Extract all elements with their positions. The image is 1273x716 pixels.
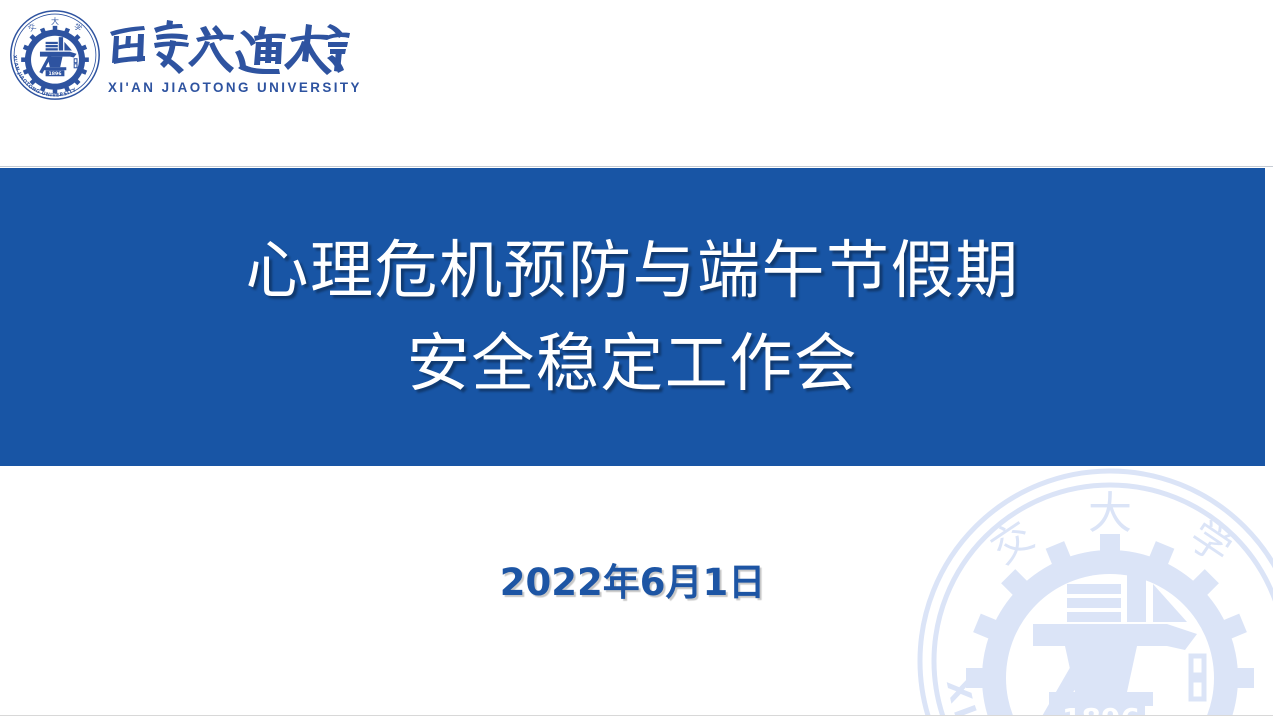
page-title-line-1: 心理危机预防与端午节假期 <box>246 224 1020 317</box>
slide-date: 2022年6月1日 <box>0 552 1265 606</box>
svg-text:交: 交 <box>26 21 38 34</box>
title-band: 心理危机预防与端午节假期 安全稳定工作会 <box>0 168 1265 466</box>
svg-text:大: 大 <box>51 16 59 26</box>
xjtu-calligraphy-wordmark-icon <box>104 16 350 78</box>
xjtu-seal-icon: XI'AN JIAOTONG UNIVERSITY 大 交 学 <box>8 8 102 102</box>
svg-text:XI'AN JIAOTONG: XI'AN JIAOTONG <box>939 676 1222 716</box>
university-logo-lockup: XI'AN JIAOTONG UNIVERSITY 大 交 学 <box>8 8 362 102</box>
page-title-line-2: 安全稳定工作会 <box>407 317 859 410</box>
header-divider <box>0 166 1273 167</box>
presentation-slide: XI'AN JIAOTONG UNIVERSITY 大 交 学 <box>0 0 1273 716</box>
svg-text:学: 学 <box>72 21 84 34</box>
university-english-name: XI'AN JIAOTONG UNIVERSITY <box>108 80 362 95</box>
svg-text:1896: 1896 <box>1062 702 1140 716</box>
svg-text:1896: 1896 <box>48 71 62 77</box>
university-wordmark: XI'AN JIAOTONG UNIVERSITY <box>104 16 362 95</box>
svg-text:大: 大 <box>1088 488 1132 539</box>
slide-header: XI'AN JIAOTONG UNIVERSITY 大 交 学 <box>0 0 1273 168</box>
